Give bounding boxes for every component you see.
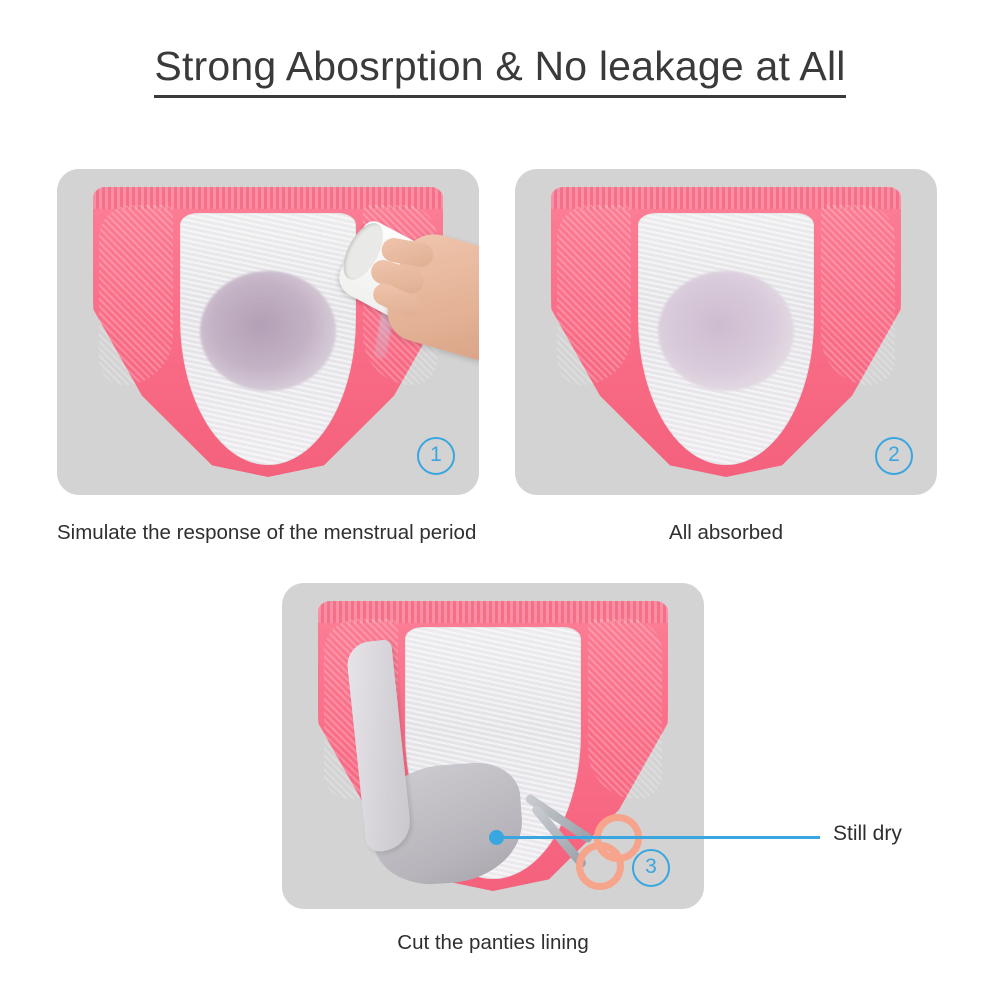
callout-leader-line bbox=[497, 836, 820, 839]
step-3-image-panel: 3 bbox=[282, 583, 704, 909]
panty-mesh-left bbox=[557, 205, 631, 385]
step-badge-1: 1 bbox=[417, 437, 455, 475]
panty-illustration-step-2 bbox=[551, 187, 901, 477]
panty-mesh-left bbox=[99, 205, 173, 385]
absorbed-stain bbox=[658, 271, 794, 391]
step-1-caption: Simulate the response of the menstrual p… bbox=[57, 518, 507, 548]
callout-label-still-dry: Still dry bbox=[833, 822, 902, 846]
liquid-stain bbox=[200, 271, 336, 391]
step-2-image-panel: 2 bbox=[515, 169, 937, 495]
step-3-caption: Cut the panties lining bbox=[282, 928, 704, 958]
panty-mesh-right bbox=[821, 205, 895, 385]
step-badge-2: 2 bbox=[875, 437, 913, 475]
panty-illustration-step-1 bbox=[93, 187, 443, 477]
panty-mesh-right bbox=[588, 619, 662, 799]
step-2-caption: All absorbed bbox=[515, 518, 937, 548]
page-title: Strong Abosrption & No leakage at All bbox=[154, 44, 845, 98]
page-title-container: Strong Abosrption & No leakage at All bbox=[0, 44, 1000, 98]
scissors-icon bbox=[518, 788, 638, 898]
step-1-image-panel: 1 bbox=[57, 169, 479, 495]
